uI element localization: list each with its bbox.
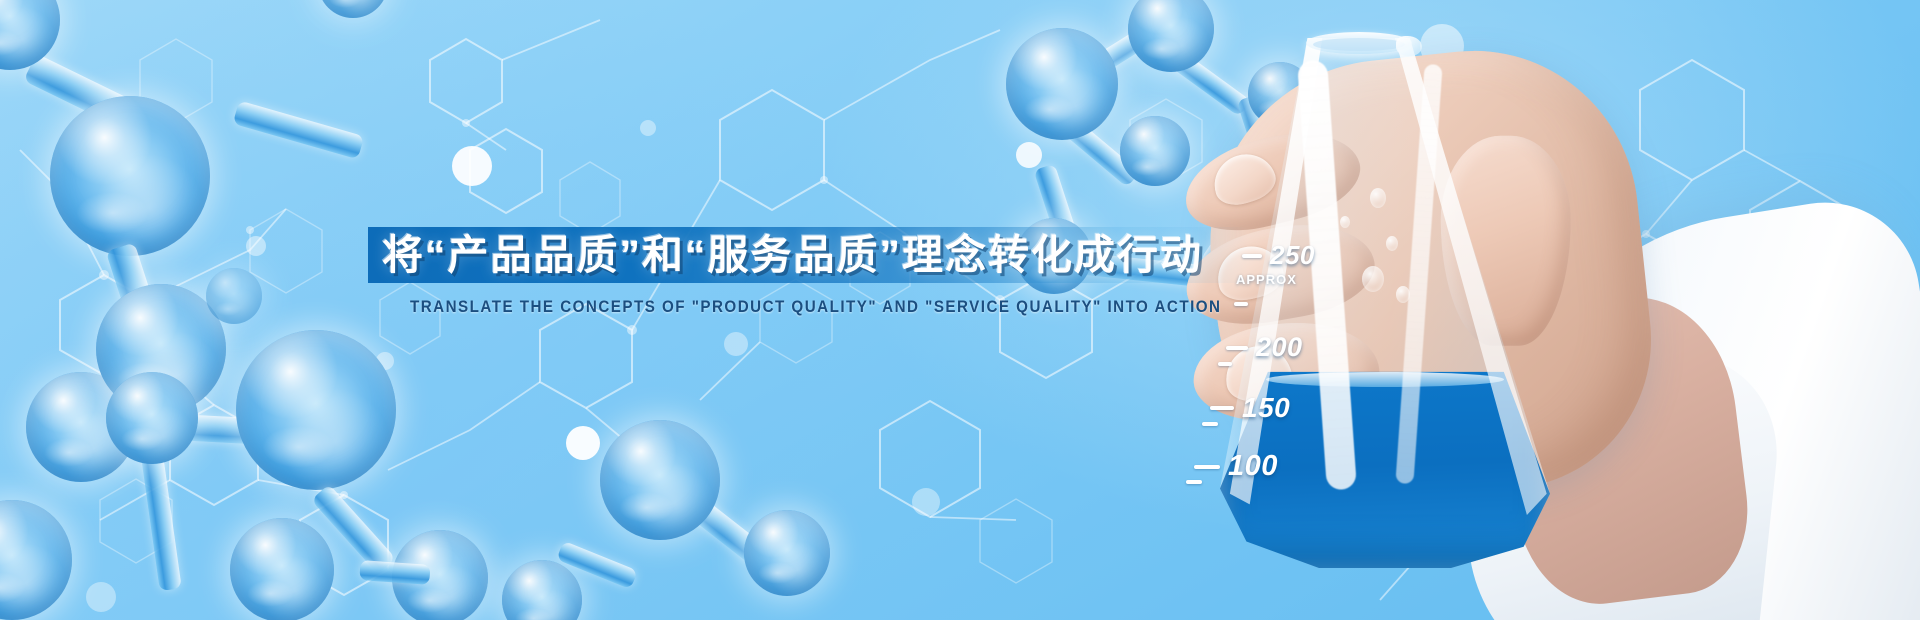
graduation-minor-2 (1218, 362, 1232, 366)
graduation-label: 100 (1228, 450, 1278, 483)
hand-holding-flask-photo: 250 APPROX 200 150 100 (1180, 0, 1920, 620)
graduation-100: 100 (1194, 450, 1278, 483)
graduation-200: 200 (1226, 332, 1303, 363)
page-title: 将“产品品质”和“服务品质”理念转化成行动 (382, 228, 1203, 282)
promo-banner: 250 APPROX 200 150 100 (0, 0, 1920, 620)
graduation-label: 200 (1256, 332, 1303, 363)
erlenmeyer-flask: 250 APPROX 200 150 100 (1220, 10, 1570, 590)
graduation-minor-4 (1186, 480, 1202, 484)
graduation-minor-1 (1234, 302, 1248, 306)
flask-rim-inner (1313, 38, 1405, 51)
graduation-label: 250 (1270, 240, 1315, 271)
flask-spout (1396, 36, 1422, 56)
liquid-surface (1266, 372, 1504, 387)
graduation-label: 150 (1242, 392, 1290, 424)
graduation-minor-3 (1202, 422, 1218, 426)
graduation-250: 250 (1242, 240, 1315, 271)
page-subtitle: TRANSLATE THE CONCEPTS OF "PRODUCT QUALI… (410, 298, 1221, 317)
graduation-150: 150 (1210, 392, 1290, 424)
